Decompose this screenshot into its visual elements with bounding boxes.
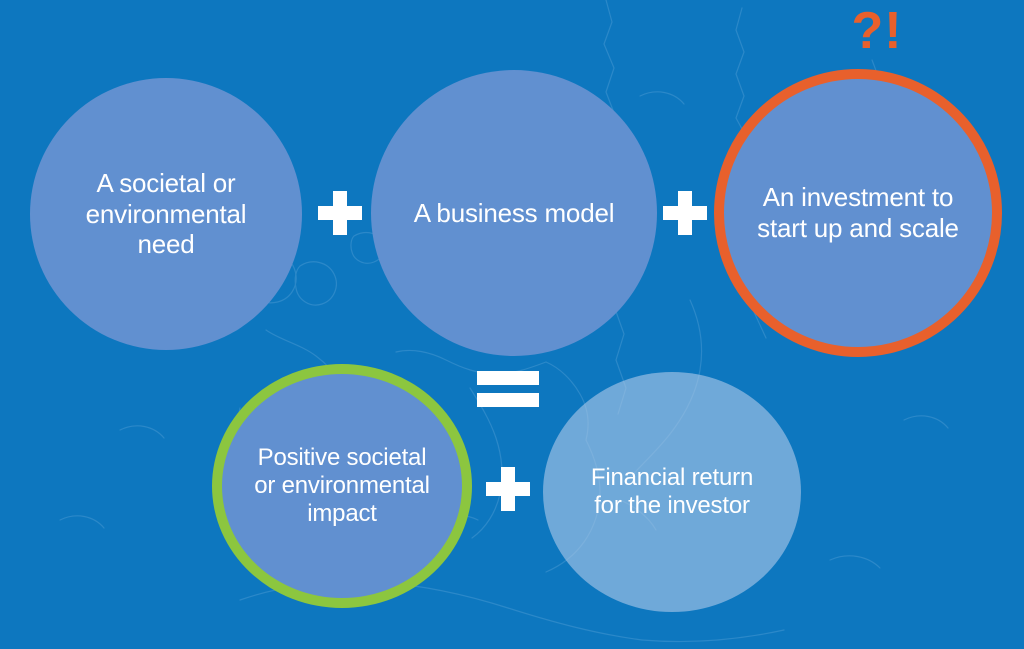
circle-investment-label: An investment to start up and scale — [751, 182, 965, 243]
equals-operator — [477, 371, 539, 407]
circle-financial-return: Financial return for the investor — [543, 372, 801, 612]
question-exclamation-mark: ?! — [832, 5, 922, 57]
plus-operator-2 — [663, 191, 707, 235]
circle-societal-need-label: A societal or environmental need — [80, 168, 253, 260]
circle-investment: An investment to start up and scale — [714, 69, 1002, 357]
circle-positive-impact: Positive societal or environmental impac… — [212, 364, 472, 608]
circle-business-model-label: A business model — [408, 198, 621, 229]
circle-positive-impact-label: Positive societal or environmental impac… — [248, 444, 436, 529]
equals-icon-top-bar — [477, 371, 539, 385]
circle-business-model: A business model — [371, 70, 657, 356]
plus-operator-3 — [486, 467, 530, 511]
plus-icon-vertical-bar — [501, 467, 515, 511]
circle-financial-return-label: Financial return for the investor — [585, 464, 759, 521]
infographic-canvas: A societal or environmental need A busin… — [0, 0, 1024, 649]
plus-icon-vertical-bar — [678, 191, 692, 235]
plus-operator-1 — [318, 191, 362, 235]
plus-icon-vertical-bar — [333, 191, 347, 235]
equals-icon-bottom-bar — [477, 393, 539, 407]
circle-societal-need: A societal or environmental need — [30, 78, 302, 350]
